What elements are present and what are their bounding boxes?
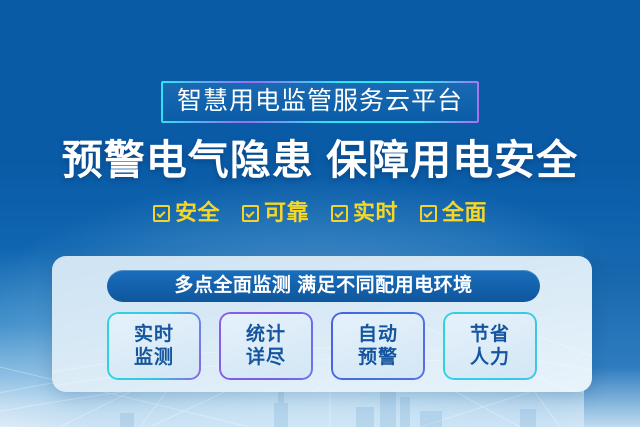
feature-tag-list: 安全 可靠 实时 全面 (0, 200, 640, 226)
checkbox-checked-icon (420, 205, 437, 222)
feature-tag-label: 安全 (175, 200, 220, 226)
feature-tag: 实时 (331, 200, 398, 226)
feature-box-detailed-statistics[interactable]: 统计 详尽 (219, 312, 313, 380)
promo-banner: 智慧用电监管服务云平台 预警电气隐患 保障用电安全 安全 可靠 实时 全面 (0, 0, 640, 427)
feature-box-line1: 自动 (358, 323, 398, 346)
feature-card-panel: 多点全面监测 满足不同配用电环境 实时 监测 统计 详尽 自动 预警 节省 人力 (52, 256, 592, 392)
feature-tag-label: 可靠 (264, 200, 309, 226)
title-badge-text: 智慧用电监管服务云平台 (177, 85, 463, 117)
feature-box-line1: 实时 (134, 323, 174, 346)
feature-tag: 安全 (153, 200, 220, 226)
feature-box-save-manpower[interactable]: 节省 人力 (443, 312, 537, 380)
feature-box-line2: 预警 (358, 346, 398, 369)
feature-box-list: 实时 监测 统计 详尽 自动 预警 节省 人力 (52, 312, 592, 380)
feature-box-line2: 监测 (134, 346, 174, 369)
feature-tag: 全面 (420, 200, 487, 226)
checkbox-checked-icon (331, 205, 348, 222)
feature-box-line2: 人力 (470, 346, 510, 369)
subtitle-pill-text: 多点全面监测 满足不同配用电环境 (174, 275, 472, 297)
feature-box-line2: 详尽 (246, 346, 286, 369)
feature-box-auto-alert[interactable]: 自动 预警 (331, 312, 425, 380)
feature-box-line1: 节省 (470, 323, 510, 346)
checkbox-checked-icon (153, 205, 170, 222)
feature-tag-label: 全面 (442, 200, 487, 226)
feature-box-realtime-monitoring[interactable]: 实时 监测 (107, 312, 201, 380)
feature-tag-label: 实时 (353, 200, 398, 226)
title-badge-wrapper: 智慧用电监管服务云平台 (0, 81, 640, 123)
headline-text: 预警电气隐患 保障用电安全 (0, 134, 640, 186)
title-badge: 智慧用电监管服务云平台 (161, 81, 479, 123)
checkbox-checked-icon (242, 205, 259, 222)
feature-box-line1: 统计 (246, 323, 286, 346)
feature-tag: 可靠 (242, 200, 309, 226)
subtitle-pill: 多点全面监测 满足不同配用电环境 (107, 270, 540, 302)
